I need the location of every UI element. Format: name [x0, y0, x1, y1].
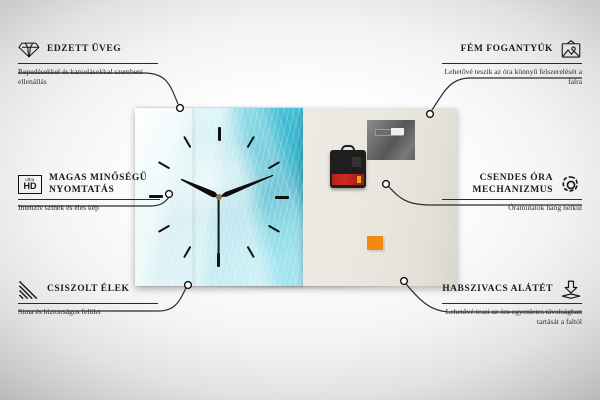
- feature-description: Repedésekkel és karcolásokkal szembeni e…: [18, 67, 158, 86]
- battery: [332, 174, 364, 185]
- feature-title: CSISZOLT ÉLEK: [47, 284, 129, 296]
- feature-title: EDZETT ÜVEG: [47, 44, 121, 56]
- divider: [442, 303, 582, 304]
- feature-quiet-mechanism: CSENDES ÓRA MECHANIZMUS Óramutatók hang …: [442, 173, 582, 213]
- divider: [18, 303, 158, 304]
- feature-description: Sima és biztonságos felület: [18, 307, 158, 317]
- product-shadow: [141, 284, 455, 300]
- divider: [18, 63, 158, 64]
- mechanism-slot: [352, 157, 361, 167]
- feature-description: Óramutatók hang nélkül: [442, 203, 582, 213]
- clock-mechanism-box: [330, 150, 366, 188]
- feature-tempered-glass: EDZETT ÜVEG Repedésekkel és karcolásokka…: [18, 40, 158, 86]
- foam-spacer-pad: [367, 236, 383, 250]
- feature-title: FÉM FOGANTYÚK: [461, 44, 553, 56]
- feature-description: Lehetővé teszi az óra egyenletes távolsá…: [442, 307, 582, 326]
- clock-second-hand: [218, 197, 220, 257]
- divider: [442, 199, 582, 200]
- feature-title: HABSZIVACS ALÁTÉT: [442, 284, 553, 296]
- divider: [442, 63, 582, 64]
- feature-description: Intenzív színek és éles kép: [18, 203, 160, 213]
- feature-title: CSENDES ÓRA MECHANIZMUS: [442, 173, 553, 196]
- ultra-hd-icon: ultra HD: [18, 175, 42, 194]
- polished-edges-icon: [18, 280, 40, 300]
- feature-polished-edges: CSISZOLT ÉLEK Sima és biztonságos felüle…: [18, 280, 158, 317]
- picture-hanger-icon: [560, 40, 582, 60]
- feature-title: MAGAS MINŐSÉGŰ NYOMTATÁS: [49, 173, 160, 196]
- clock-back-panel: [303, 108, 457, 286]
- infographic-canvas: EDZETT ÜVEG Repedésekkel és karcolásokka…: [0, 0, 600, 400]
- diamond-icon: [18, 40, 40, 60]
- product-image: [135, 108, 457, 286]
- ultra-hd-icon-large-text: HD: [24, 182, 37, 191]
- clock-center-cap: [216, 194, 222, 200]
- foam-pad-arrow-icon: [560, 280, 582, 300]
- feature-high-quality-print: ultra HD MAGAS MINŐSÉGŰ NYOMTATÁS Intenz…: [18, 173, 160, 213]
- clock-front-panel: [135, 108, 303, 286]
- divider: [18, 199, 160, 200]
- feature-metal-handles: FÉM FOGANTYÚK Lehetővé teszik az óra kön…: [442, 40, 582, 86]
- feature-foam-underlay: HABSZIVACS ALÁTÉT Lehetővé teszi az óra …: [442, 280, 582, 326]
- mechanism-hanger-loop: [341, 145, 355, 153]
- feature-description: Lehetővé teszik az óra könnyű felszerelé…: [442, 67, 582, 86]
- metal-hanger-plate: [367, 120, 415, 160]
- gear-icon: [560, 175, 582, 195]
